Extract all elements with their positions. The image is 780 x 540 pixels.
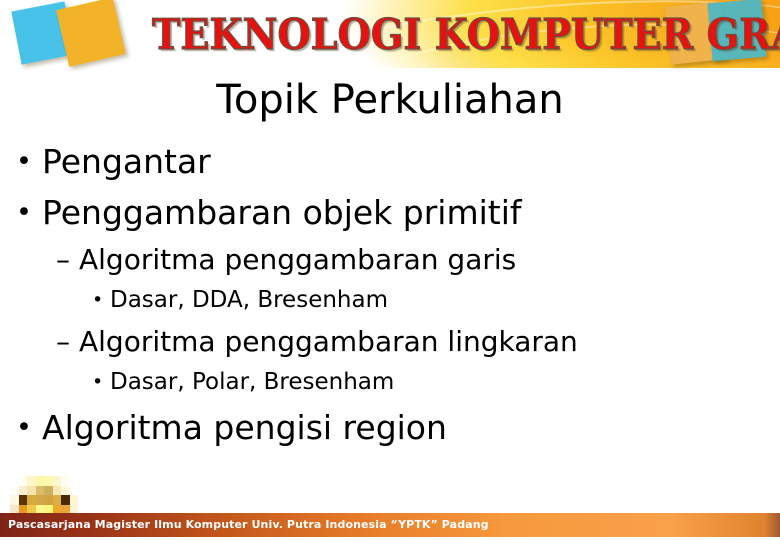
- pixel-cell: [70, 476, 79, 486]
- pixel-cell: [36, 486, 45, 496]
- list-item-label: Algoritma penggambaran garis: [79, 238, 516, 281]
- footer-text: Pascasarjana Magister Ilmu Komputer Univ…: [8, 516, 489, 533]
- list-item: • Pengantar: [0, 136, 780, 187]
- slide-title: Topik Perkuliahan: [0, 76, 780, 124]
- pixel-cell: [10, 495, 19, 505]
- pixel-cell: [70, 495, 79, 505]
- bullet-list: • Pengantar • Penggambaran objek primiti…: [0, 136, 780, 453]
- banner-title: TEKNOLOGI KOMPUTER GRAFIK: [152, 11, 671, 58]
- list-item: – Algoritma penggambaran garis: [0, 238, 780, 281]
- dash-marker: –: [56, 238, 79, 281]
- pixel-cell: [27, 486, 36, 496]
- pixel-cell: [44, 476, 53, 486]
- pixelated-logo-thumbnail: [10, 476, 78, 514]
- footer-bar: Pascasarjana Magister Ilmu Komputer Univ…: [0, 513, 780, 537]
- pixel-cell: [27, 495, 36, 505]
- pixel-cell: [61, 476, 70, 486]
- bullet-marker: •: [92, 363, 110, 402]
- bullet-marker: •: [16, 402, 42, 453]
- pixel-cell: [36, 495, 45, 505]
- pixel-cell: [19, 486, 28, 496]
- pixel-cell: [44, 486, 53, 496]
- pixel-cell: [27, 476, 36, 486]
- banner-white-base: [0, 68, 780, 74]
- list-item-label: Dasar, DDA, Bresenham: [110, 281, 388, 320]
- pixel-cell: [61, 486, 70, 496]
- list-item-label: Algoritma pengisi region: [42, 402, 447, 453]
- dash-marker: –: [56, 320, 79, 363]
- pixel-cell: [53, 486, 62, 496]
- pixel-cell: [53, 495, 62, 505]
- pixel-cell: [19, 476, 28, 486]
- list-item: • Algoritma pengisi region: [0, 402, 780, 453]
- pixel-cell: [70, 486, 79, 496]
- pixel-cell: [44, 495, 53, 505]
- list-item-label: Pengantar: [42, 136, 211, 187]
- pixel-cell: [10, 476, 19, 486]
- list-item: • Dasar, Polar, Bresenham: [0, 363, 780, 402]
- list-item: • Dasar, DDA, Bresenham: [0, 281, 780, 320]
- list-item: • Penggambaran objek primitif: [0, 187, 780, 238]
- list-item-label: Algoritma penggambaran lingkaran: [79, 320, 578, 363]
- header-banner: TEKNOLOGI KOMPUTER GRAFIK: [0, 0, 780, 74]
- list-item-label: Penggambaran objek primitif: [42, 187, 522, 238]
- bullet-marker: •: [16, 187, 42, 238]
- bullet-marker: •: [16, 136, 42, 187]
- pixel-cell: [53, 476, 62, 486]
- bullet-marker: •: [92, 281, 110, 320]
- list-item-label: Dasar, Polar, Bresenham: [110, 363, 394, 402]
- pixel-cell: [61, 495, 70, 505]
- pixel-cell: [36, 476, 45, 486]
- list-item: – Algoritma penggambaran lingkaran: [0, 320, 780, 363]
- pixel-cell: [10, 486, 19, 496]
- pixel-cell: [19, 495, 28, 505]
